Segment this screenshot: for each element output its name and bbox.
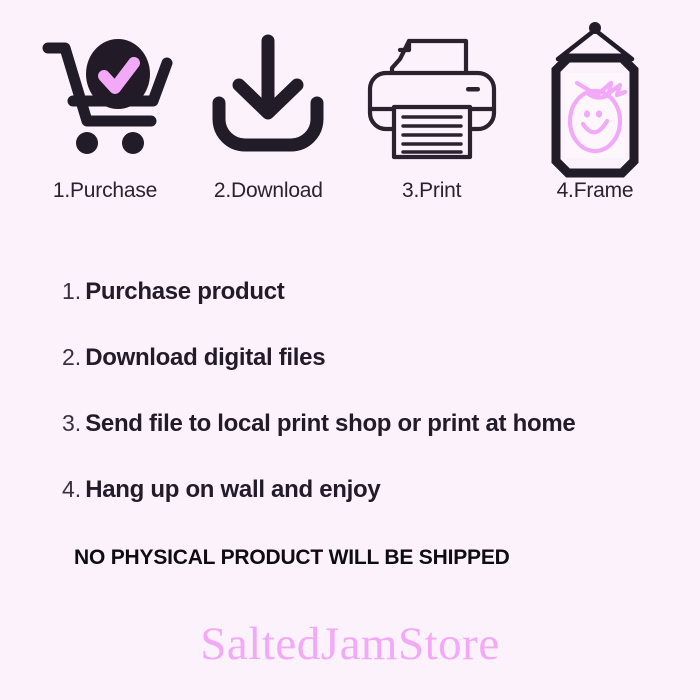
listing-instruction-graphic: 1.Purchase 2.Download [0, 0, 700, 700]
instruction-item: 2. Download digital files [62, 344, 662, 410]
step-frame: 4.Frame [520, 28, 670, 203]
step-label-purchase: 1.Purchase [53, 179, 157, 203]
instruction-number: 4. [62, 476, 81, 503]
step-label-frame: 4.Frame [557, 179, 634, 203]
download-arrow-icon [203, 28, 333, 173]
step-purchase: 1.Purchase [30, 28, 180, 203]
step-label-download: 2.Download [214, 179, 323, 203]
instruction-text: Send file to local print shop or print a… [85, 410, 575, 438]
instruction-text: Hang up on wall and enjoy [85, 476, 380, 504]
instruction-item: 1. Purchase product [62, 278, 662, 344]
steps-strip: 1.Purchase 2.Download [0, 18, 700, 203]
no-physical-product-notice: NO PHYSICAL PRODUCT WILL BE SHIPPED [74, 546, 510, 570]
instruction-item: 4. Hang up on wall and enjoy [62, 476, 662, 542]
instruction-text: Download digital files [85, 344, 325, 372]
step-label-print: 3.Print [402, 179, 461, 203]
instruction-number: 1. [62, 278, 81, 305]
picture-frame-icon [525, 28, 665, 173]
shop-brand-name: SaltedJamStore [0, 617, 700, 671]
step-print: 3.Print [357, 28, 507, 203]
printer-icon [362, 28, 502, 173]
instruction-item: 3. Send file to local print shop or prin… [62, 410, 662, 476]
instruction-number: 2. [62, 344, 81, 371]
instruction-list: 1. Purchase product 2. Download digital … [62, 278, 662, 542]
step-download: 2.Download [193, 28, 343, 203]
instruction-text: Purchase product [85, 278, 284, 306]
instruction-number: 3. [62, 410, 81, 437]
shopping-cart-check-icon [35, 28, 175, 173]
